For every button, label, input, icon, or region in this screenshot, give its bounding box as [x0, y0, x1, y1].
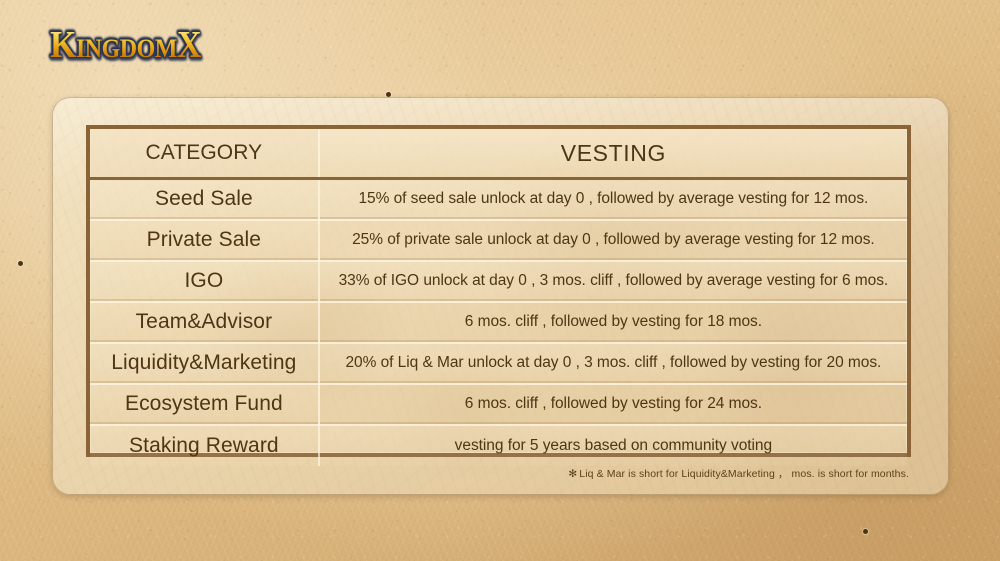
cell-vesting: 6 mos. cliff , followed by vesting for 2…	[319, 384, 907, 425]
cell-category: Staking Reward	[90, 425, 319, 466]
cell-vesting: 25% of private sale unlock at day 0 , fo…	[319, 220, 907, 261]
cell-category: Private Sale	[90, 220, 319, 261]
table-row: Private Sale25% of private sale unlock a…	[90, 220, 907, 261]
column-header-vesting: VESTING	[319, 129, 907, 179]
deco-dot-left	[18, 261, 23, 266]
cell-vesting: vesting for 5 years based on community v…	[319, 425, 907, 466]
cell-category: Seed Sale	[90, 179, 319, 220]
vesting-table: CATEGORY VESTING Seed Sale15% of seed sa…	[90, 129, 907, 466]
table-row: Staking Rewardvesting for 5 years based …	[90, 425, 907, 466]
cell-vesting: 20% of Liq & Mar unlock at day 0 , 3 mos…	[319, 343, 907, 384]
column-header-category: CATEGORY	[90, 129, 319, 179]
tokenomics-vesting-slide: KingdomX CATEGORY VESTING Seed Sale15% o…	[0, 0, 1000, 561]
table-header: CATEGORY VESTING	[90, 129, 907, 179]
table-row: Ecosystem Fund6 mos. cliff , followed by…	[90, 384, 907, 425]
table-header-row: CATEGORY VESTING	[90, 129, 907, 179]
table-row: IGO33% of IGO unlock at day 0 , 3 mos. c…	[90, 261, 907, 302]
deco-dot-bottom-right	[863, 529, 868, 534]
cell-category: Liquidity&Marketing	[90, 343, 319, 384]
table-row: Seed Sale15% of seed sale unlock at day …	[90, 179, 907, 220]
footnote: ✻Liq & Mar is short for Liquidity&Market…	[568, 466, 909, 481]
cell-vesting: 15% of seed sale unlock at day 0 , follo…	[319, 179, 907, 220]
vesting-table-frame: CATEGORY VESTING Seed Sale15% of seed sa…	[86, 125, 911, 457]
asterisk-icon: ✻	[568, 468, 577, 480]
table-row: Liquidity&Marketing20% of Liq & Mar unlo…	[90, 343, 907, 384]
cell-category: IGO	[90, 261, 319, 302]
table-row: Team&Advisor6 mos. cliff , followed by v…	[90, 302, 907, 343]
cell-category: Ecosystem Fund	[90, 384, 319, 425]
cell-vesting: 33% of IGO unlock at day 0 , 3 mos. clif…	[319, 261, 907, 302]
cell-category: Team&Advisor	[90, 302, 319, 343]
footnote-text: Liq & Mar is short for Liquidity&Marketi…	[579, 468, 909, 480]
cell-vesting: 6 mos. cliff , followed by vesting for 1…	[319, 302, 907, 343]
kingdomx-logo: KingdomX	[50, 27, 201, 65]
content-panel: CATEGORY VESTING Seed Sale15% of seed sa…	[52, 97, 949, 495]
table-body: Seed Sale15% of seed sale unlock at day …	[90, 179, 907, 466]
